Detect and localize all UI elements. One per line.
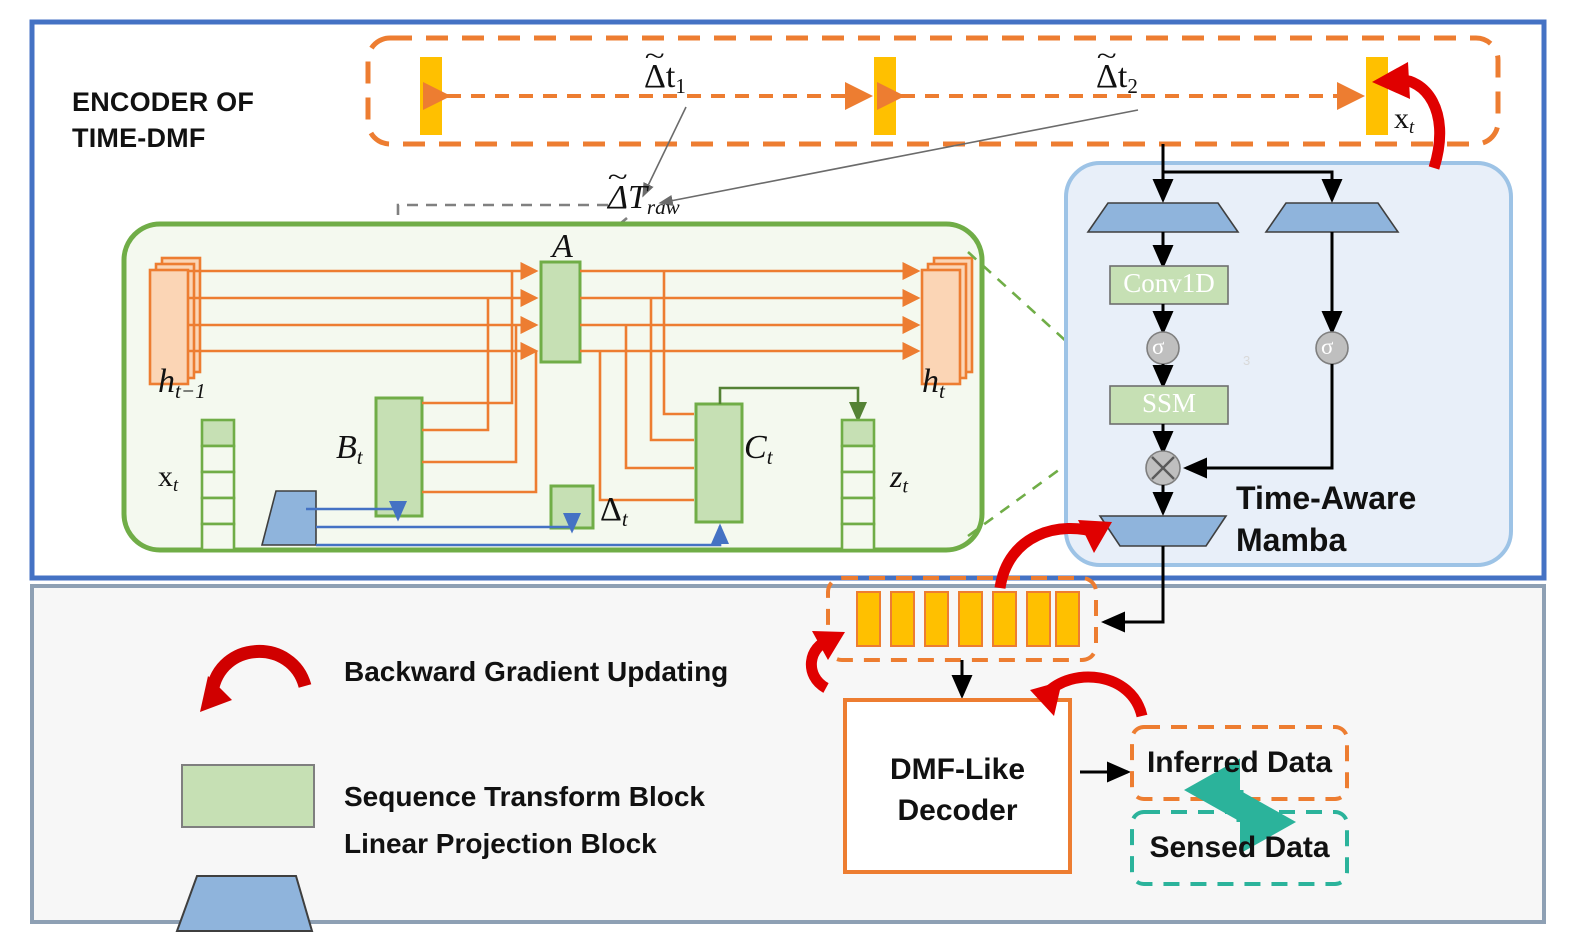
legend-blue-trapezoid-glyph [177,876,312,931]
sigma-left-glyph: σ [1152,334,1164,360]
delta-t2-label: Δt2 [1096,57,1138,99]
latent-bar-group [857,592,1079,646]
figure-canvas: ENCODER OF TIME-DMF Δt1 Δt2 xt ΔTraw A B… [0,0,1582,945]
xt-cell-3 [202,472,234,498]
block-A-label: A [552,228,573,266]
sigma-right-glyph: σ [1321,334,1333,360]
block-Ct [696,404,742,522]
encoder-title: ENCODER OF TIME-DMF [72,85,254,156]
delta-t1-subscript: 1 [675,74,686,98]
block-Bt-label: Bt [336,428,363,470]
ssm-label: SSM [1110,388,1228,419]
block-delta-t-label: Δt [600,490,628,532]
encoder-title-line1: ENCODER OF [72,87,254,117]
h-prev-label: ht−1 [158,362,206,404]
zt-vector-label: zt [890,458,908,499]
latent-bar [925,592,948,646]
mamba-title-line2: Mamba [1236,522,1346,558]
zt-cell-4 [842,498,874,524]
zt-cell-1 [842,420,874,446]
xt-cell-1 [202,420,234,446]
inferred-data-label: Inferred Data [1132,746,1347,780]
zt-cell-2 [842,446,874,472]
latent-bar [1056,592,1079,646]
latent-bar [1027,592,1050,646]
block-Ct-label: Ct [744,428,773,470]
timeline-tick-1 [420,57,442,135]
stray-numeral-mark: 3 [1243,353,1250,368]
latent-bar [959,592,982,646]
delta-T-raw-label: ΔTraw [608,178,680,220]
legend-label-backward-gradient: Backward Gradient Updating [344,656,728,688]
conv1d-label: Conv1D [1110,268,1228,299]
xt-cell-2 [202,446,234,472]
zt-cell-3 [842,472,874,498]
dmf-decoder-label-line2: Decoder [897,794,1017,827]
encoder-title-line2: TIME-DMF [72,123,206,153]
legend-green-rect-glyph [182,765,314,827]
xt-vector-label: xt [158,460,178,497]
timeline-tick-2 [874,57,896,135]
zt-cell-5 [842,524,874,550]
legend-label-sequence-transform: Sequence Transform Block [344,781,705,813]
latent-bar [993,592,1016,646]
block-A [541,262,580,362]
xt-cell-5 [202,524,234,550]
dmf-decoder-label-line1: DMF-Like [890,753,1025,786]
latent-bar [857,592,880,646]
sensed-data-label: Sensed Data [1132,831,1347,865]
mamba-title: Time-Aware Mamba [1236,477,1416,561]
mamba-title-line1: Time-Aware [1236,480,1416,516]
legend-label-linear-projection: Linear Projection Block [344,828,657,860]
block-delta-t [551,486,593,528]
xt-timeline-label: xt [1394,102,1414,139]
mamba-out-projection [1100,516,1226,546]
mamba-proj-left [1088,203,1238,232]
h-cur-label: ht [922,362,945,404]
delta-t1-label: Δt1 [644,57,686,99]
dmf-decoder-label: DMF-Like Decoder [845,749,1070,832]
xt-cell-4 [202,498,234,524]
mamba-proj-right [1266,203,1398,232]
block-Bt [376,398,422,516]
latent-bar [891,592,914,646]
delta-t2-subscript: 2 [1127,74,1138,98]
timeline-tick-3 [1366,57,1388,135]
